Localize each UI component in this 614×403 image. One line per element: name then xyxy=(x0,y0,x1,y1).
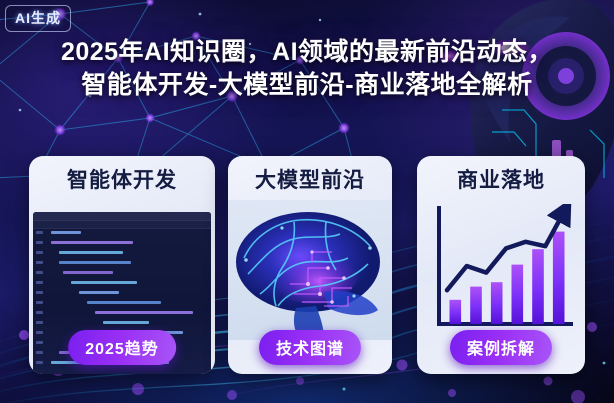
card-title: 商业落地 xyxy=(457,168,545,194)
editor-menubar xyxy=(33,221,211,229)
page-title: 2025年AI知识圈，AI领域的最新前沿动态， 智能体开发-大模型前沿-商业落地… xyxy=(0,36,614,102)
card-badge[interactable]: 技术图谱 xyxy=(259,330,361,365)
card-badge[interactable]: 2025趋势 xyxy=(68,330,176,365)
card-badge[interactable]: 案例拆解 xyxy=(450,330,552,365)
feature-card-agent-development[interactable]: 智能体开发 2025趋势 xyxy=(29,156,215,374)
headline-line-2: 智能体开发-大模型前沿-商业落地全解析 xyxy=(0,69,614,102)
feature-card-large-model-frontier[interactable]: 大模型前沿 技术图谱 xyxy=(228,156,392,374)
editor-titlebar xyxy=(33,212,211,221)
trend-arrow xyxy=(447,210,565,290)
card-title: 智能体开发 xyxy=(67,168,177,194)
chart-bar xyxy=(491,282,503,324)
chart-bar xyxy=(532,249,544,324)
brain-illustration xyxy=(228,200,392,340)
bar-chart-svg xyxy=(429,204,575,334)
feature-card-business-landing[interactable]: 商业落地 案例拆解 xyxy=(417,156,585,374)
card-title: 大模型前沿 xyxy=(255,168,365,194)
headline-line-1: 2025年AI知识圈，AI领域的最新前沿动态， xyxy=(61,38,553,66)
feature-card-list: 智能体开发 2025趋势 xyxy=(0,156,614,374)
growth-bar-chart xyxy=(429,204,575,334)
poster-canvas: AI生成 2025年AI知识圈，AI领域的最新前沿动态， 智能体开发-大模型前沿… xyxy=(0,0,614,403)
chart-bar xyxy=(512,265,524,324)
chart-bar xyxy=(553,232,565,324)
chart-bar xyxy=(450,300,462,324)
ai-generated-watermark: AI生成 xyxy=(5,5,71,32)
chart-bar xyxy=(470,287,482,324)
brain-svg xyxy=(228,200,392,340)
